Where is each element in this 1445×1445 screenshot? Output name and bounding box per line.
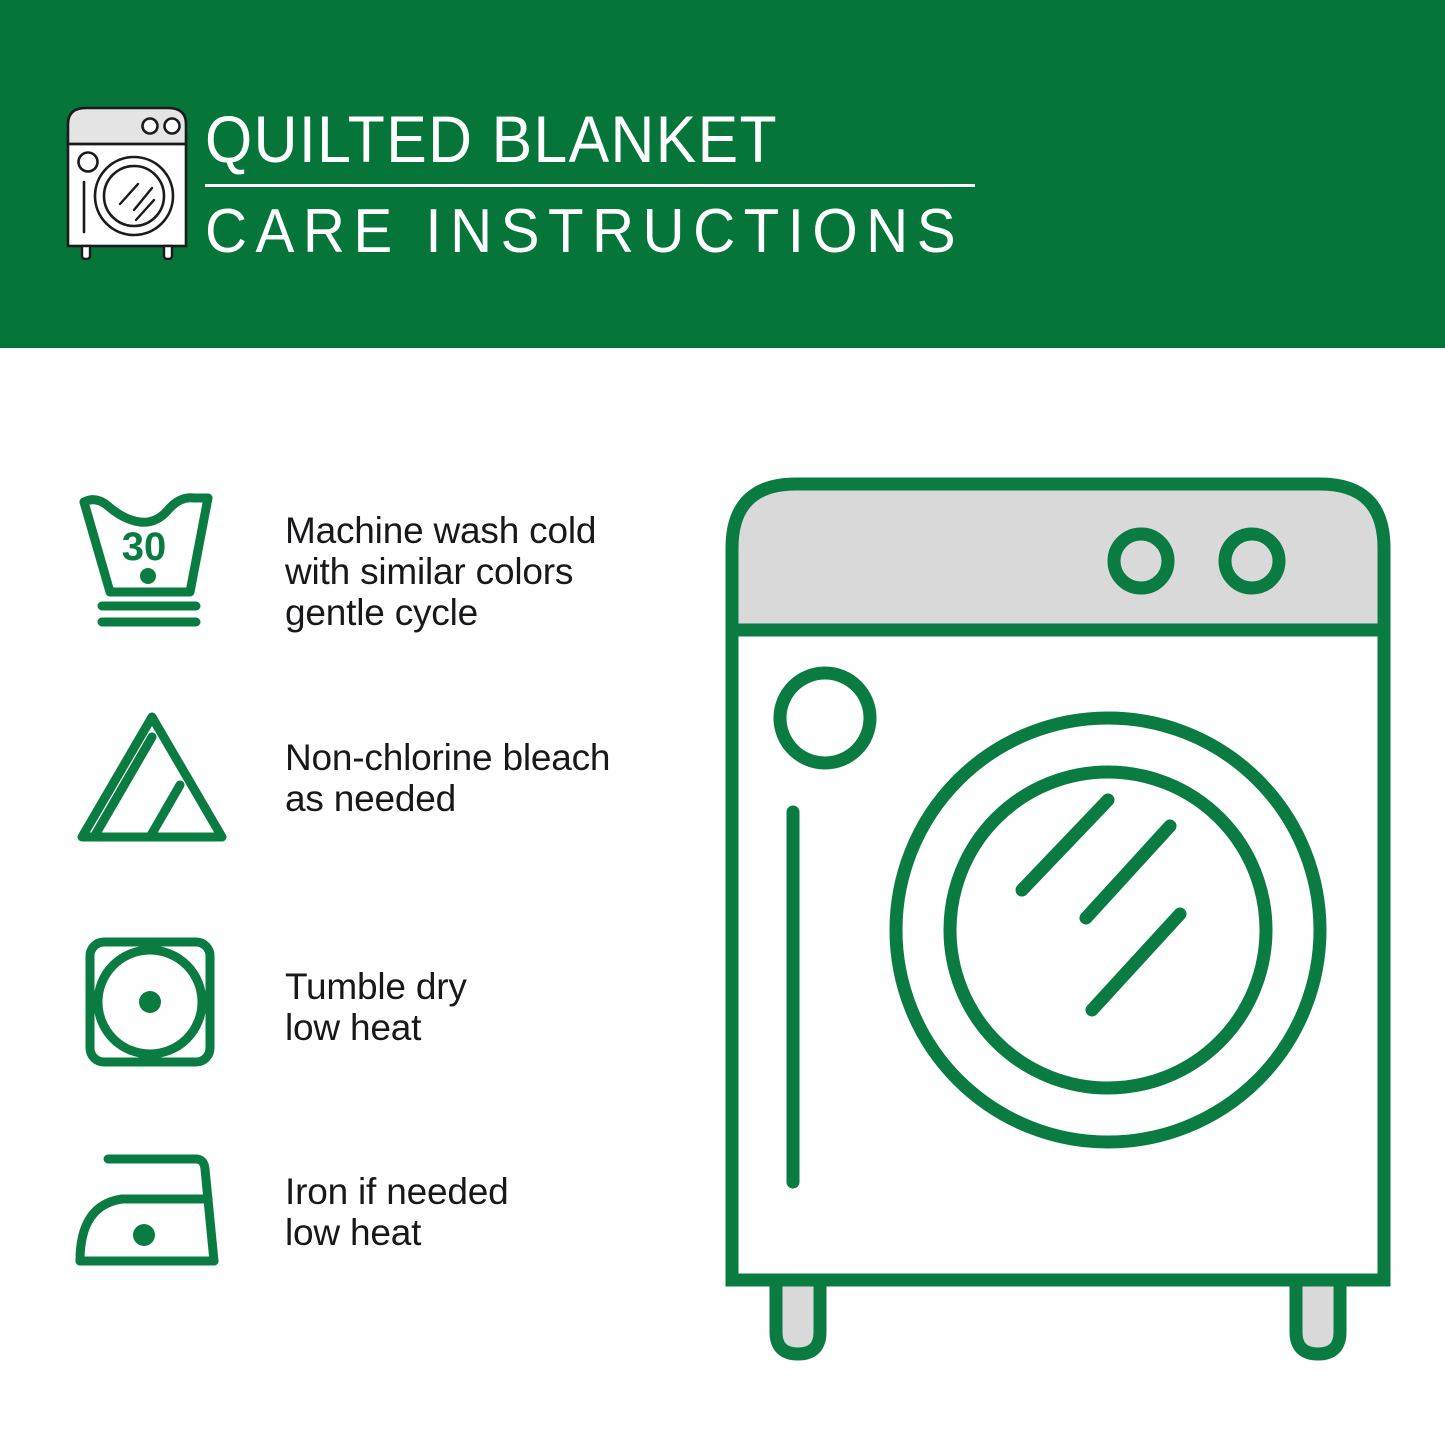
care-line: Machine wash cold xyxy=(285,510,690,551)
page-title: QUILTED BLANKET xyxy=(205,100,932,178)
care-line: Tumble dry xyxy=(285,966,690,1007)
non-chlorine-bleach-icon xyxy=(70,703,235,853)
care-instructions-page: QUILTED BLANKET CARE INSTRUCTIONS 30 xyxy=(0,0,1445,1445)
care-text-bleach: Non-chlorine bleach as needed xyxy=(235,703,690,819)
header-banner: QUILTED BLANKET CARE INSTRUCTIONS xyxy=(0,0,1445,348)
care-line: gentle cycle xyxy=(285,592,690,633)
care-instruction-list: 30 Machine wash cold with similar colors… xyxy=(0,348,700,1445)
care-text-tumble-dry: Tumble dry low heat xyxy=(235,928,690,1048)
care-line: low heat xyxy=(285,1007,690,1048)
care-line: Iron if needed xyxy=(285,1171,690,1212)
page-subtitle: CARE INSTRUCTIONS xyxy=(205,195,948,269)
care-line: as needed xyxy=(285,778,690,819)
front-load-washing-machine-illustration xyxy=(718,470,1398,1370)
tumble-dry-low-icon xyxy=(70,928,235,1078)
leg-right xyxy=(1296,1280,1340,1354)
wash-temperature-label: 30 xyxy=(122,525,167,569)
header-text-block: QUILTED BLANKET CARE INSTRUCTIONS xyxy=(205,100,995,269)
iron-low-heat-icon xyxy=(70,1143,235,1293)
care-row-tumble-dry: Tumble dry low heat xyxy=(70,928,690,1078)
care-line: Non-chlorine bleach xyxy=(285,737,690,778)
care-row-iron: Iron if needed low heat xyxy=(70,1143,690,1293)
care-text-iron: Iron if needed low heat xyxy=(235,1143,690,1253)
washing-machine-icon xyxy=(62,100,192,260)
machine-wash-30-gentle-icon: 30 xyxy=(70,488,235,638)
care-line: low heat xyxy=(285,1212,690,1253)
control-panel xyxy=(732,484,1384,630)
care-line: with similar colors xyxy=(285,551,690,592)
title-divider xyxy=(205,184,975,187)
care-text-machine-wash: Machine wash cold with similar colors ge… xyxy=(235,488,690,633)
care-row-machine-wash: 30 Machine wash cold with similar colors… xyxy=(70,488,690,638)
care-row-bleach: Non-chlorine bleach as needed xyxy=(70,703,690,853)
leg-left xyxy=(776,1280,820,1354)
